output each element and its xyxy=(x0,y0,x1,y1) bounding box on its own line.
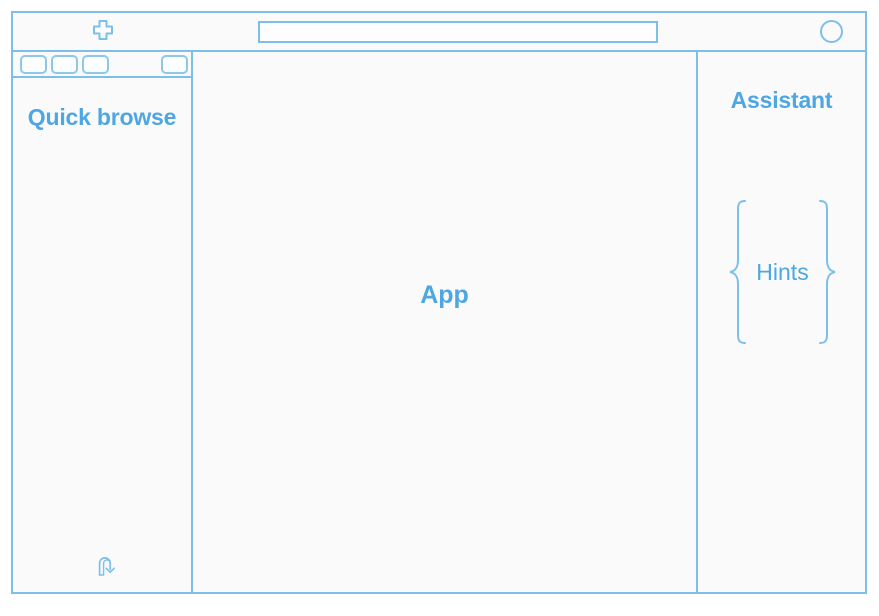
sidebar-tab-bar xyxy=(13,52,191,78)
hints-group: Hints xyxy=(706,197,859,347)
hints-label: Hints xyxy=(750,259,814,286)
sidebar-panel: Quick browse xyxy=(13,52,193,592)
quick-browse-title: Quick browse xyxy=(13,102,191,133)
assistant-panel: Assistant Hints xyxy=(698,52,865,592)
profile-button[interactable] xyxy=(811,13,851,50)
avatar-circle-icon xyxy=(820,20,843,43)
app-window-frame: Quick browse App Assistant xyxy=(11,11,867,594)
sidebar-tab-3[interactable] xyxy=(82,55,109,74)
search-bar[interactable] xyxy=(258,13,673,50)
u-turn-back-button[interactable] xyxy=(93,551,123,581)
sidebar-tab-1[interactable] xyxy=(20,55,47,74)
window-body: Quick browse App Assistant xyxy=(13,52,865,592)
plus-icon xyxy=(90,19,116,45)
app-content-area: App xyxy=(193,52,698,592)
right-brace-icon xyxy=(815,198,839,346)
header-bar xyxy=(13,13,865,52)
app-title: App xyxy=(420,281,469,310)
sidebar-tab-4[interactable] xyxy=(161,55,188,74)
sidebar-tab-2[interactable] xyxy=(51,55,78,74)
search-input[interactable] xyxy=(258,21,658,43)
left-brace-icon xyxy=(726,198,750,346)
u-turn-arrow-icon xyxy=(93,551,123,581)
assistant-title: Assistant xyxy=(698,87,865,114)
sidebar-content: Quick browse xyxy=(13,78,191,592)
wireframe-canvas: Quick browse App Assistant xyxy=(0,0,879,616)
add-button[interactable] xyxy=(13,13,193,50)
